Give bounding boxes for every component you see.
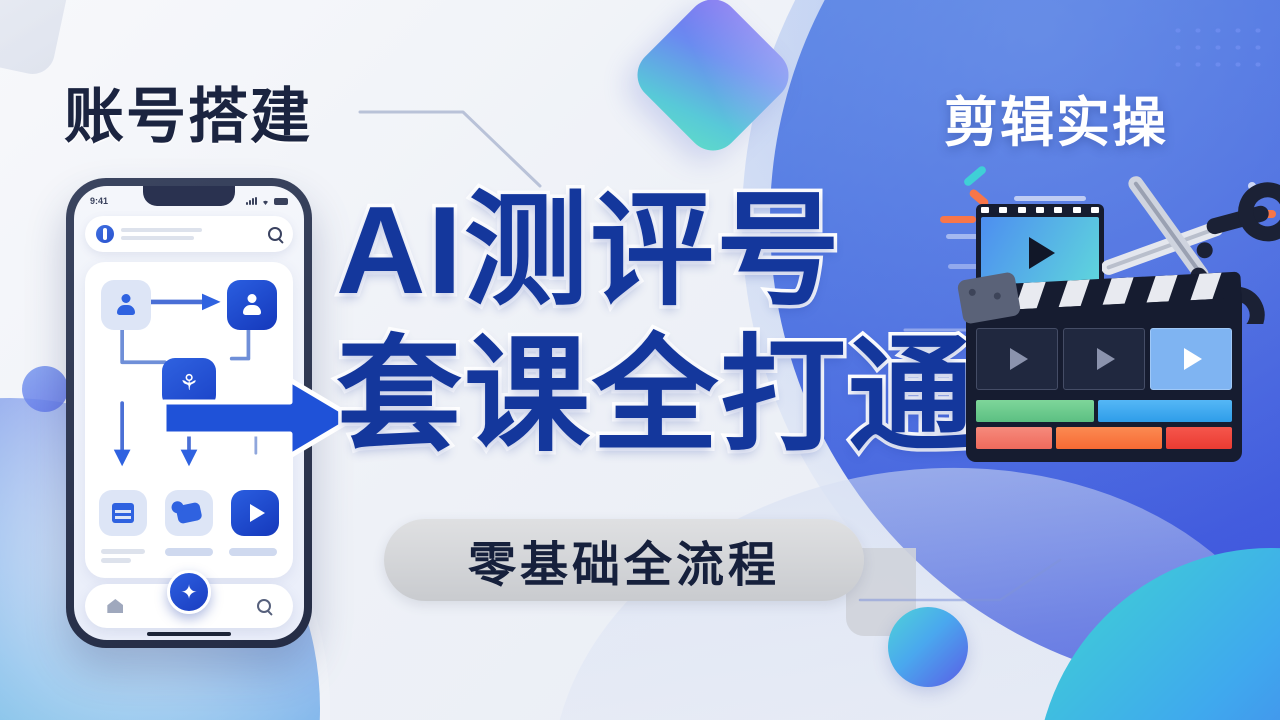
user-icon: [115, 294, 137, 316]
search-icon[interactable]: [268, 227, 282, 241]
document-tile: [99, 490, 147, 536]
caption-line: [101, 549, 145, 554]
caption-line: [165, 548, 213, 556]
signal-bars-icon: [246, 197, 257, 205]
subtitle-text: 零基础全流程: [468, 525, 780, 595]
handshake-icon: [175, 502, 202, 525]
tag-account-building: 账号搭建: [64, 68, 312, 155]
poster-canvas: 账号搭建 剪辑实操 9:41: [0, 0, 1280, 720]
subtitle-badge: 零基础全流程: [384, 519, 864, 601]
battery-icon: [274, 198, 288, 205]
home-icon[interactable]: [107, 599, 123, 613]
caption-line: [101, 558, 131, 563]
corner-tab-shape: [0, 0, 72, 78]
preview-frame: [1063, 328, 1145, 390]
timeline-clip: [1056, 427, 1162, 449]
play-icon: [250, 504, 265, 522]
status-time: 9:41: [90, 196, 108, 206]
dot-grid-pattern: [1168, 22, 1268, 74]
small-circle-decor: [22, 366, 68, 412]
phone-status-bar: 9:41: [74, 193, 304, 209]
sparkle-icon[interactable]: ✦: [167, 570, 211, 614]
user-filled-tile: [227, 280, 277, 330]
timeline-row: [976, 400, 1232, 422]
timeline-clip: [1098, 400, 1232, 422]
flow-arrow-icon: [160, 372, 360, 464]
preview-frame-active: [1150, 328, 1232, 390]
status-icons: [246, 197, 288, 206]
video-editing-graphic: [952, 168, 1280, 530]
home-indicator: [147, 632, 231, 636]
clapper-previews: [976, 328, 1232, 390]
wifi-icon: [260, 197, 271, 206]
timeline-tracks: [976, 400, 1232, 450]
timeline-row: [976, 427, 1232, 449]
gradient-sphere: [888, 607, 968, 687]
white-streak-decor: [1014, 196, 1086, 201]
clapper-hinge: [957, 271, 1022, 324]
document-icon: [112, 503, 134, 523]
tag-editing-practice: 剪辑实操: [944, 78, 1168, 157]
handshake-tile: [165, 490, 213, 536]
search-icon[interactable]: [257, 599, 271, 613]
preview-frame: [976, 328, 1058, 390]
play-icon: [1029, 237, 1055, 269]
teal-streak-decor: [962, 165, 987, 188]
film-perforations: [981, 207, 1099, 213]
globe-icon: [96, 225, 114, 243]
video-tile: [231, 490, 279, 536]
timeline-clip: [976, 400, 1094, 422]
timeline-clip: [1166, 427, 1232, 449]
user-outline-tile: [101, 280, 151, 330]
clapperboard-icon: [966, 286, 1242, 462]
caption-line: [229, 548, 277, 556]
phone-search-bar[interactable]: [85, 216, 293, 252]
timeline-clip: [976, 427, 1052, 449]
orange-dot-decor: [940, 216, 976, 223]
search-placeholder-lines: [121, 228, 261, 240]
user-badge-icon: [241, 294, 263, 316]
